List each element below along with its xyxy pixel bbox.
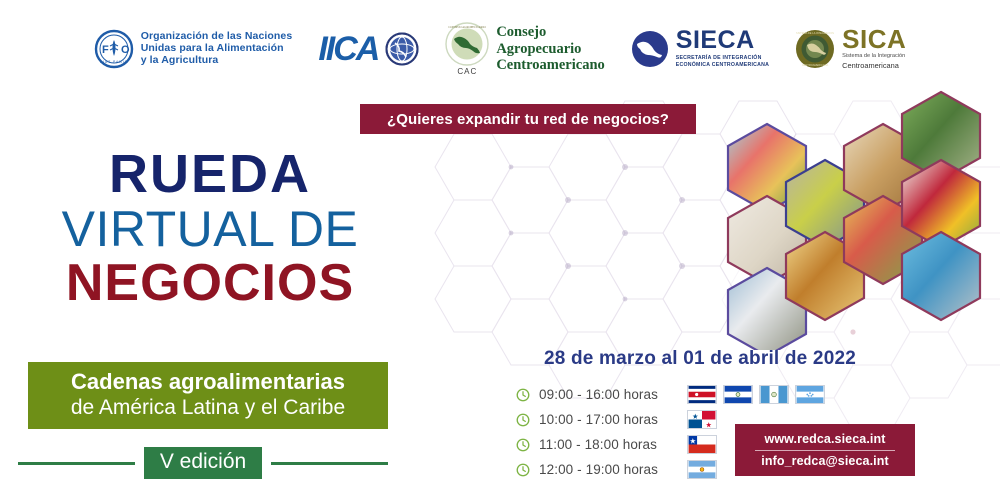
sica-subtitle-large: Centroamericana bbox=[842, 61, 899, 70]
sieca-logo-text-block: SIECA SECRETARÍA DE INTEGRACIÓN ECONÓMIC… bbox=[676, 29, 769, 68]
event-dates: 28 de marzo al 01 de abril de 2022 bbox=[510, 348, 890, 370]
flag-guatemala bbox=[759, 385, 789, 404]
flag-argentina bbox=[687, 460, 717, 479]
contact-email[interactable]: info_redca@sieca.int bbox=[761, 452, 888, 471]
sica-logo-text-block: SICA Sistema de la IntegraciónCentroamer… bbox=[842, 27, 906, 72]
svg-text:SISTEMA DE LA INTEGRACION: SISTEMA DE LA INTEGRACION bbox=[796, 31, 834, 35]
schedule-time: 09:00 - 16:00 horas bbox=[539, 387, 687, 402]
sieca-logo-text: SIECA bbox=[676, 29, 769, 53]
subtitle-box: Cadenas agroalimentarias de América Lati… bbox=[28, 362, 388, 429]
schedule-flags bbox=[687, 410, 717, 429]
contact-website[interactable]: www.redca.sieca.int bbox=[765, 430, 886, 449]
cac-logo: CONSEJO AGROPECUARIO CAC Consejo Agropec… bbox=[445, 22, 604, 76]
edition-rule-right bbox=[271, 462, 388, 465]
title-line-virtual-de: VIRTUAL DE bbox=[0, 203, 420, 256]
schedule-time: 10:00 - 17:00 horas bbox=[539, 412, 687, 427]
clock-icon bbox=[516, 438, 530, 452]
contact-divider bbox=[755, 450, 895, 451]
main-title: RUEDA VIRTUAL DE NEGOCIOS bbox=[0, 148, 420, 310]
schedule-flags bbox=[687, 460, 717, 479]
question-banner: ¿Quieres expandir tu red de negocios? bbox=[360, 104, 696, 134]
fao-logo: F O FIAT PANIS Organización de las Nacio… bbox=[94, 29, 293, 69]
title-line-negocios: NEGOCIOS bbox=[0, 257, 420, 310]
iica-logo-text: IICA bbox=[318, 30, 378, 69]
sieca-logo-subtitle: SECRETARÍA DE INTEGRACIÓN ECONÓMICA CENT… bbox=[676, 55, 769, 69]
sica-logo: SISTEMA DE LA INTEGRACION CENTROAMERICAN… bbox=[795, 27, 906, 72]
sieca-logo: SIECA SECRETARÍA DE INTEGRACIÓN ECONÓMIC… bbox=[631, 29, 769, 68]
edition-badge: V edición bbox=[144, 447, 262, 479]
sica-logo-subtitle: Sistema de la IntegraciónCentroamericana bbox=[842, 53, 906, 71]
sica-logo-text: SICA bbox=[842, 27, 906, 52]
edition-row: V edición bbox=[18, 444, 388, 482]
sica-subtitle-small: Sistema de la Integración bbox=[842, 53, 905, 59]
iica-globe-icon bbox=[385, 32, 419, 66]
svg-text:CENTROAMERICANA: CENTROAMERICANA bbox=[802, 63, 829, 67]
cac-logo-abbr: CAC bbox=[457, 67, 477, 76]
flag-honduras bbox=[795, 385, 825, 404]
svg-text:CONSEJO AGROPECUARIO: CONSEJO AGROPECUARIO bbox=[449, 25, 487, 29]
svg-text:FIAT PANIS: FIAT PANIS bbox=[100, 60, 128, 64]
hexagon-photo-collage bbox=[700, 88, 1000, 350]
clock-icon bbox=[516, 463, 530, 477]
fao-logo-text: Organización de las Naciones Unidas para… bbox=[141, 31, 293, 67]
schedule-flags bbox=[687, 385, 825, 404]
title-line-rueda: RUEDA bbox=[0, 148, 420, 201]
iica-logo: IICA bbox=[318, 30, 419, 69]
sica-emblem-icon: SISTEMA DE LA INTEGRACION CENTROAMERICAN… bbox=[795, 29, 835, 69]
flag-panama bbox=[687, 410, 717, 429]
schedule-row: 09:00 - 16:00 horas bbox=[516, 382, 856, 407]
sieca-emblem-icon bbox=[631, 30, 669, 68]
cac-emblem-icon: CONSEJO AGROPECUARIO bbox=[445, 22, 489, 66]
contact-box: www.redca.sieca.int info_redca@sieca.int bbox=[735, 424, 915, 476]
clock-icon bbox=[516, 388, 530, 402]
edition-rule-left bbox=[18, 462, 135, 465]
flag-el-salvador bbox=[723, 385, 753, 404]
cac-logo-text: Consejo Agropecuario Centroamericano bbox=[496, 24, 604, 74]
promotional-banner: F O FIAT PANIS Organización de las Nacio… bbox=[0, 0, 1000, 500]
clock-icon bbox=[516, 413, 530, 427]
flag-chile bbox=[687, 435, 717, 454]
schedule-time: 11:00 - 18:00 horas bbox=[539, 437, 687, 452]
schedule-time: 12:00 - 19:00 horas bbox=[539, 462, 687, 477]
svg-text:O: O bbox=[121, 44, 130, 56]
svg-text:F: F bbox=[102, 44, 109, 56]
sponsor-logo-bar: F O FIAT PANIS Organización de las Nacio… bbox=[0, 14, 1000, 84]
subtitle-line-1: Cadenas agroalimentarias bbox=[38, 369, 378, 395]
schedule-flags bbox=[687, 435, 717, 454]
flag-costa-rica bbox=[687, 385, 717, 404]
subtitle-line-2: de América Latina y el Caribe bbox=[38, 395, 378, 420]
fao-emblem-icon: F O FIAT PANIS bbox=[94, 29, 134, 69]
question-banner-text: ¿Quieres expandir tu red de negocios? bbox=[387, 111, 669, 128]
